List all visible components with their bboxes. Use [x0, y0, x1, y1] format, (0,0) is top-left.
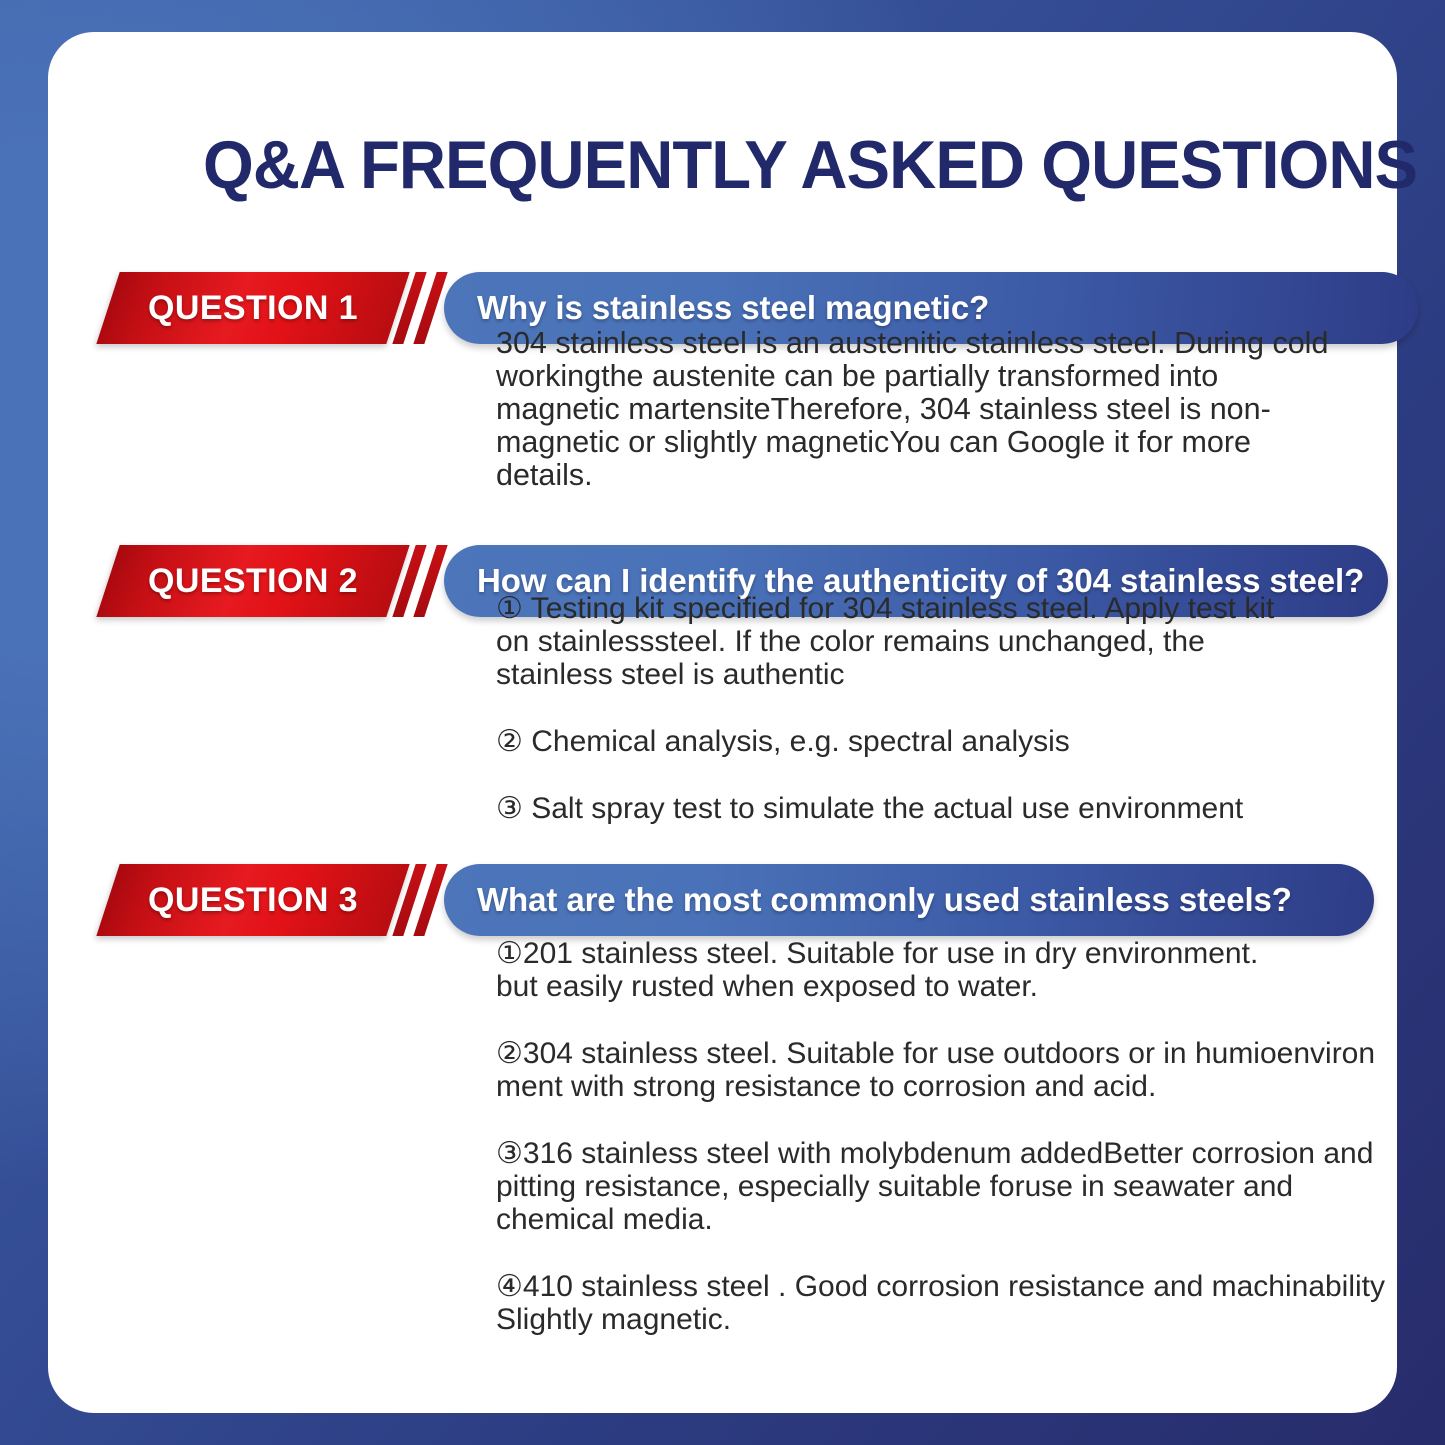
question-row-3: QUESTION 3 What are the most commonly us… [48, 864, 1397, 942]
answer-body-1: 304 stainless steel is an austenitic sta… [496, 327, 1341, 492]
answer-paragraph: 304 stainless steel is an austenitic sta… [496, 327, 1341, 492]
answer-paragraph: ③316 stainless steel with molybdenum add… [496, 1137, 1386, 1236]
question-tag-label-1: QUESTION 1 [108, 272, 398, 344]
faq-card: Q&A FREQUENTLY ASKED QUESTIONS QUESTION … [48, 32, 1397, 1413]
question-tag-label-3: QUESTION 3 [108, 864, 398, 936]
question-title-3: What are the most commonly used stainles… [477, 881, 1292, 919]
answer-paragraph: ②304 stainless steel. Suitable for use o… [496, 1037, 1386, 1103]
answer-paragraph: ③ Salt spray test to simulate the actual… [496, 792, 1286, 825]
question-tag-3[interactable]: QUESTION 3 [96, 864, 409, 936]
answer-body-3: ①201 stainless steel. Suitable for use i… [496, 937, 1386, 1336]
question-tag-2[interactable]: QUESTION 2 [96, 545, 409, 617]
answer-paragraph: ① Testing kit specified for 304 stainles… [496, 592, 1286, 691]
page-title: Q&A FREQUENTLY ASKED QUESTIONS [203, 126, 1417, 204]
answer-paragraph: ④410 stainless steel . Good corrosion re… [496, 1270, 1386, 1336]
question-tag-1[interactable]: QUESTION 1 [96, 272, 409, 344]
question-banner-3[interactable]: What are the most commonly used stainles… [444, 864, 1374, 936]
answer-paragraph: ①201 stainless steel. Suitable for use i… [496, 937, 1386, 1003]
question-tag-label-2: QUESTION 2 [108, 545, 398, 617]
answer-body-2: ① Testing kit specified for 304 stainles… [496, 592, 1286, 825]
faq-page: Q&A FREQUENTLY ASKED QUESTIONS QUESTION … [0, 0, 1445, 1445]
answer-paragraph: ② Chemical analysis, e.g. spectral analy… [496, 725, 1286, 758]
question-title-1: Why is stainless steel magnetic? [477, 289, 989, 327]
